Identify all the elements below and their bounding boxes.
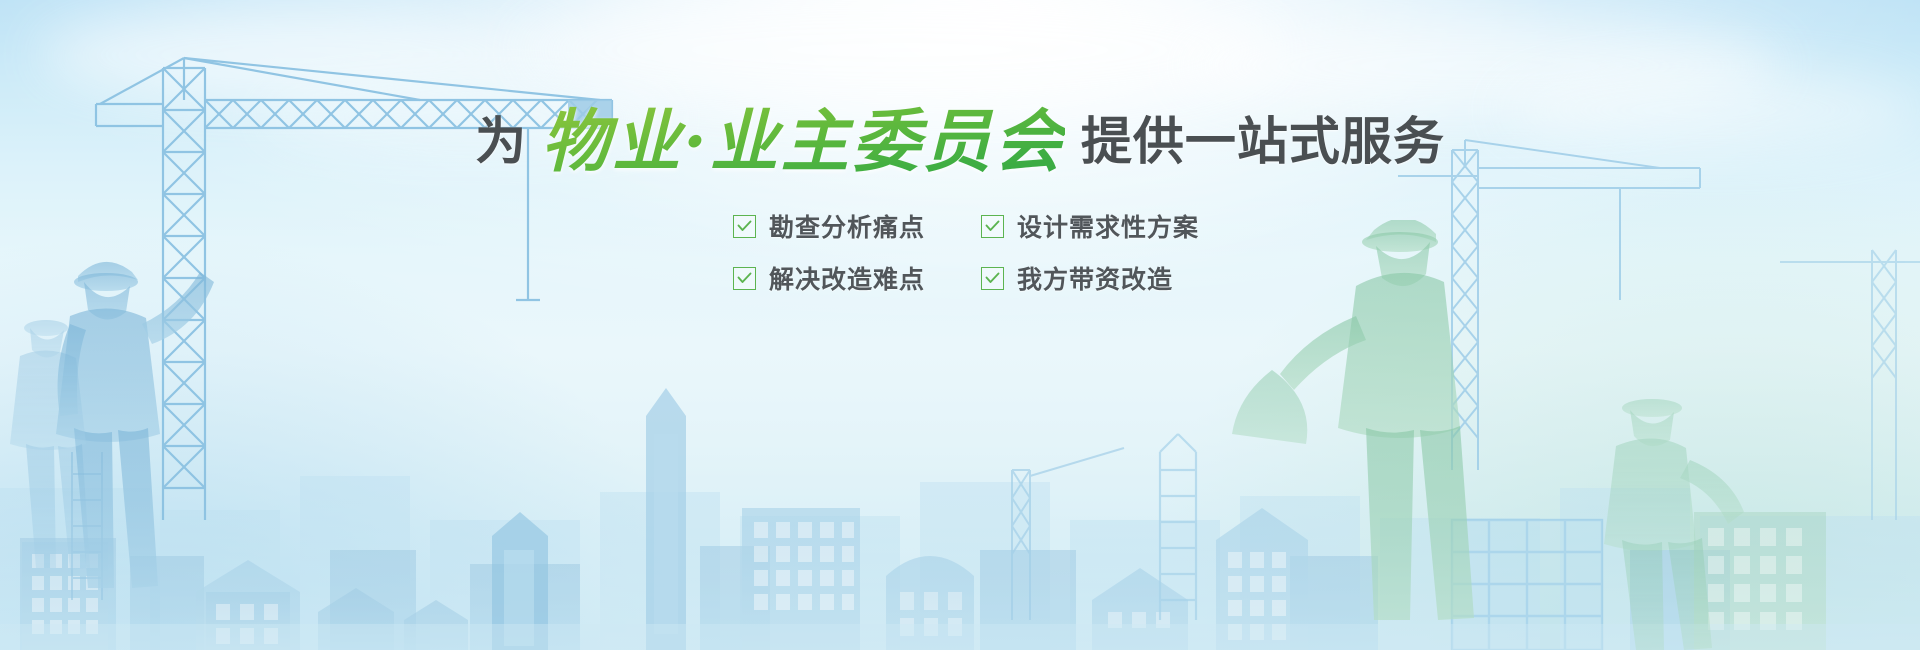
cloud-layer xyxy=(0,0,1920,650)
construction-frame xyxy=(1452,520,1602,650)
arched-building xyxy=(886,556,974,650)
crane-layer xyxy=(0,0,1920,650)
checklist-label: 设计需求性方案 xyxy=(1017,208,1199,244)
checklist-item-2[interactable]: 解决改造难点 xyxy=(733,260,929,296)
hero-banner: 为物业·业主委员会提供一站式服务 勘查分析痛点 设计需求性方案 xyxy=(0,0,1920,650)
checklist-label: 我方带资改造 xyxy=(1017,260,1173,296)
cloud-shape xyxy=(40,10,560,100)
headline: 为物业·业主委员会提供一站式服务 xyxy=(0,108,1920,176)
scaffold-ladder xyxy=(1160,434,1196,620)
mobile-crane xyxy=(1012,448,1124,620)
worker-right-secondary xyxy=(1604,399,1744,650)
tower-crane-right xyxy=(1398,140,1700,470)
center-spire xyxy=(646,388,686,650)
checklist-item-3[interactable]: 我方带资改造 xyxy=(981,260,1199,296)
check-icon[interactable] xyxy=(733,267,756,290)
feature-checklist: 勘查分析痛点 设计需求性方案 解决改造难点 xyxy=(0,208,1920,296)
check-icon[interactable] xyxy=(981,267,1004,290)
check-icon[interactable] xyxy=(981,215,1004,238)
blue-glass-tower xyxy=(492,512,548,650)
checklist-label: 勘查分析痛点 xyxy=(769,208,925,244)
low-houses xyxy=(318,588,468,650)
headline-tail: 提供一站式服务 xyxy=(1081,113,1445,172)
left-ladder xyxy=(72,452,102,600)
cloud-shape xyxy=(1180,18,1780,114)
house-cluster-right xyxy=(1092,568,1188,650)
mid-buildings xyxy=(20,538,1730,650)
headline-lead: 为 xyxy=(475,113,527,172)
right-tower xyxy=(1216,508,1308,650)
checklist-label: 解决改造难点 xyxy=(769,260,925,296)
worker-left-blue xyxy=(56,262,214,588)
checklist-item-0[interactable]: 勘查分析痛点 xyxy=(733,208,929,244)
far-buildings xyxy=(0,476,1920,650)
checklist-grid: 勘查分析痛点 设计需求性方案 解决改造难点 xyxy=(733,208,1199,296)
cloud-shape xyxy=(520,0,1280,110)
center-block xyxy=(742,508,860,650)
worker-left-secondary xyxy=(10,320,90,570)
construction-frame-fill xyxy=(1452,520,1602,650)
headline-script: 物业·业主委员会 xyxy=(541,102,1065,182)
right-green-building xyxy=(1694,512,1826,650)
house-cluster-left xyxy=(196,560,300,650)
check-icon[interactable] xyxy=(733,215,756,238)
left-tower xyxy=(22,542,108,650)
checklist-item-1[interactable]: 设计需求性方案 xyxy=(981,208,1199,244)
